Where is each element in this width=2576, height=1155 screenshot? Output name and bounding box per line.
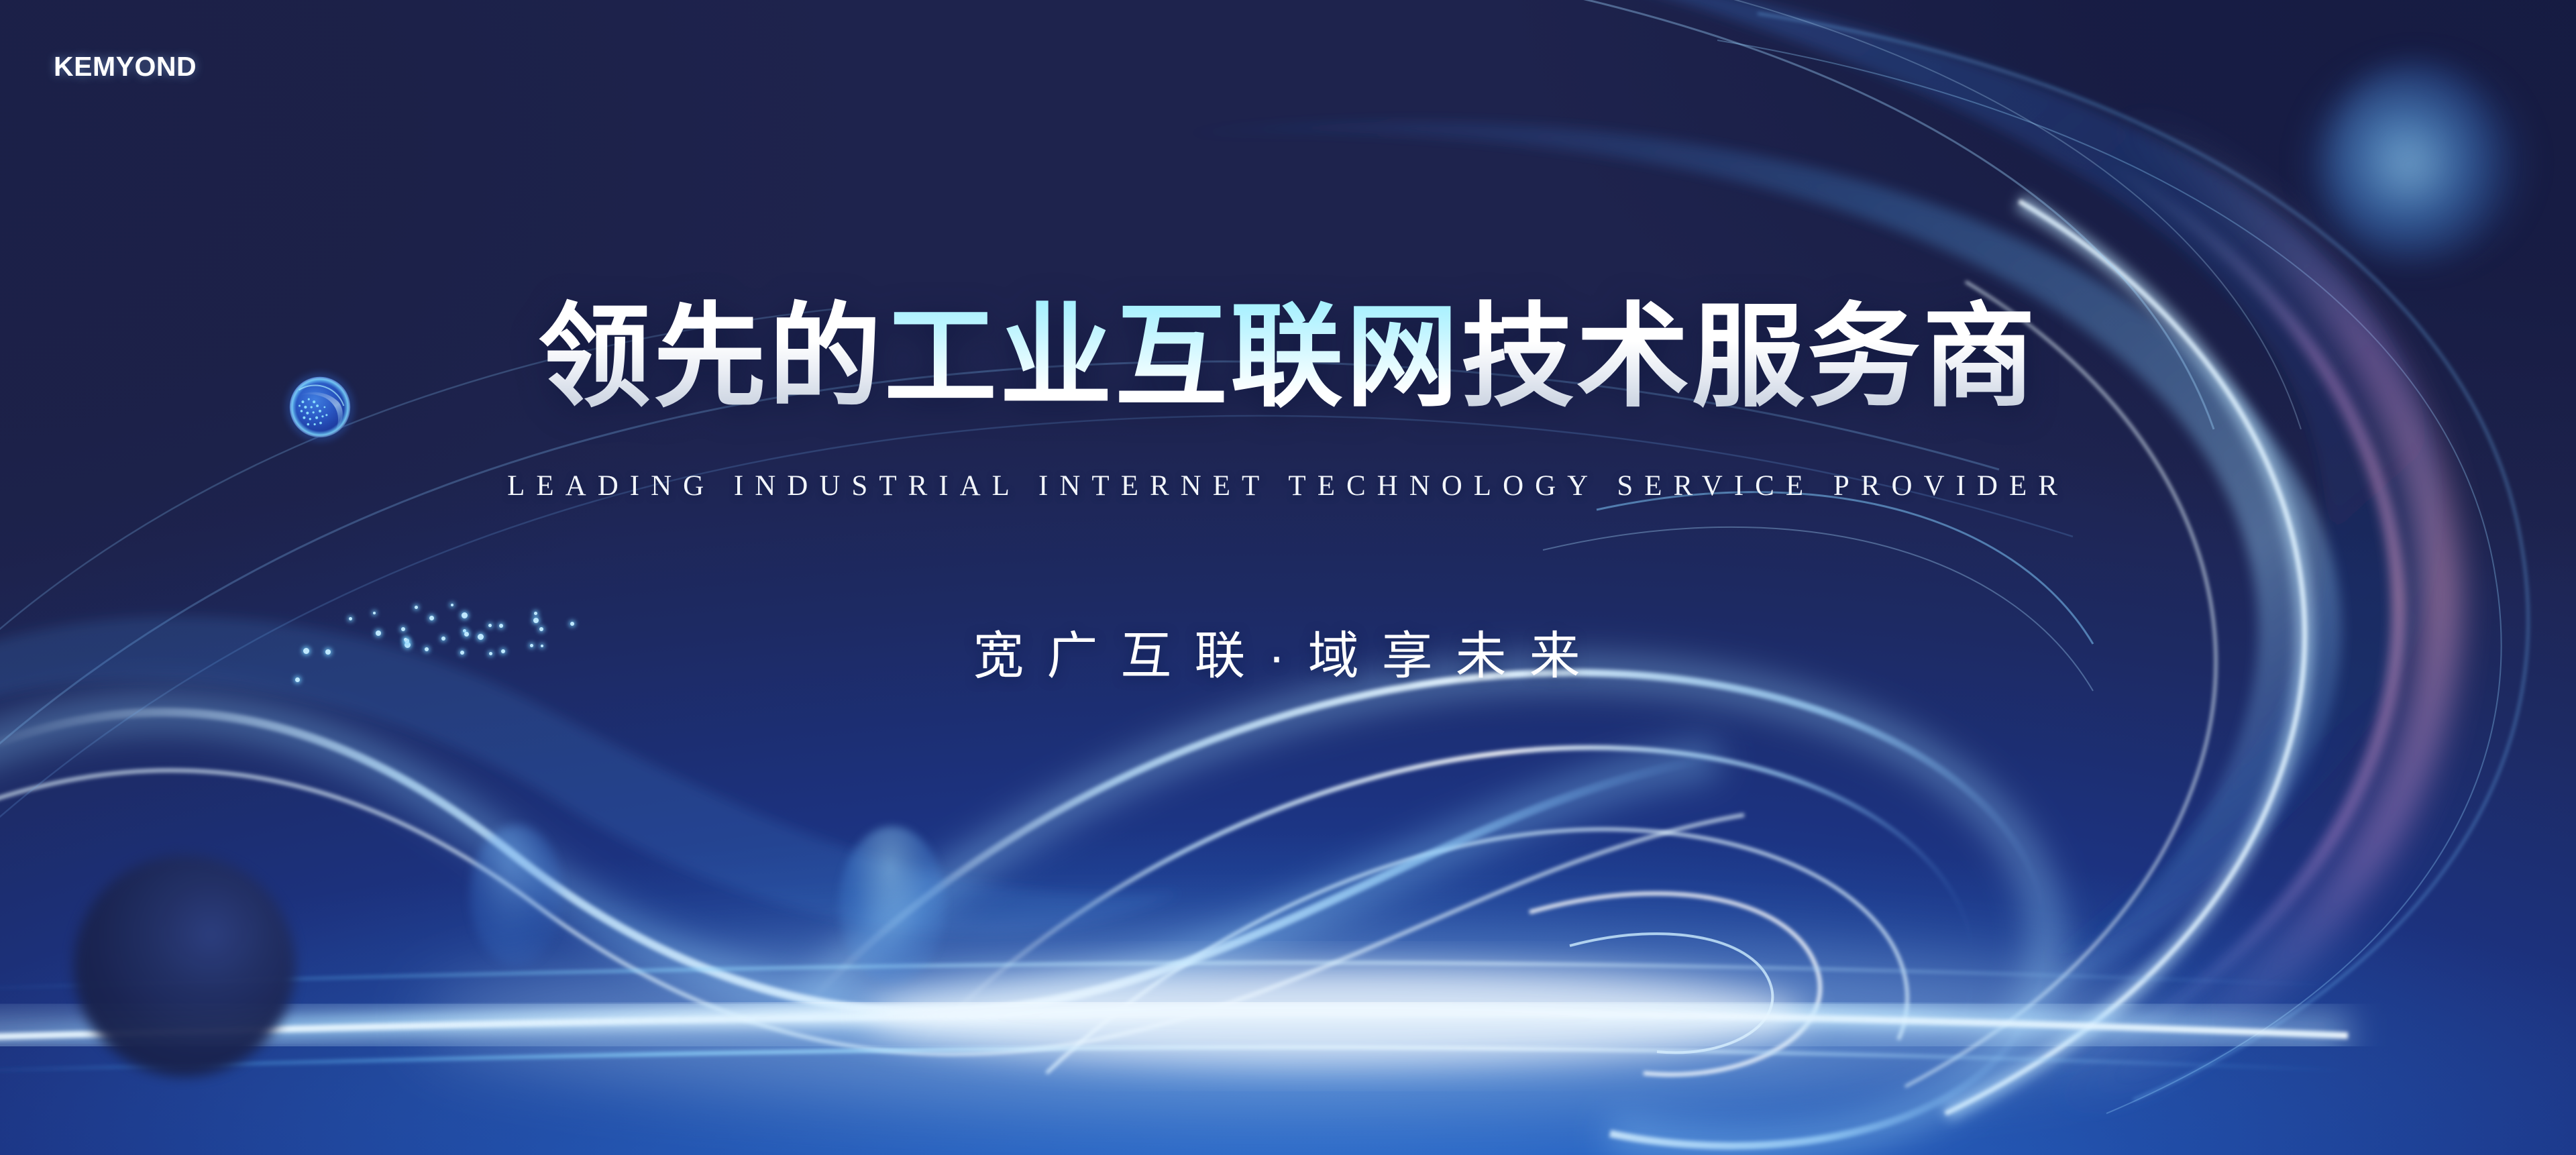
brand-logo[interactable]: KEMYOND [54, 51, 197, 82]
tagline-separator: · [1268, 628, 1307, 685]
particle-dots-group [0, 0, 2576, 1155]
tagline-left: 宽广互联 [973, 628, 1268, 685]
promo-banner: KEMYOND 领先的工业互联网技术服务商 LEADING INDUSTRIAL… [0, 0, 2576, 1155]
tagline-right: 域享未来 [1308, 628, 1603, 685]
subtitle-english: LEADING INDUSTRIAL INTERNET TECHNOLOGY S… [0, 470, 2576, 502]
headline-part-lead: 领先的 [538, 294, 884, 420]
headline: 领先的工业互联网技术服务商 [0, 300, 2576, 413]
headline-part-tail: 技术服务商 [1461, 294, 2038, 420]
headline-part-highlight: 工业互联网 [884, 294, 1461, 420]
tagline: 宽广互联·域享未来 [0, 614, 2576, 688]
